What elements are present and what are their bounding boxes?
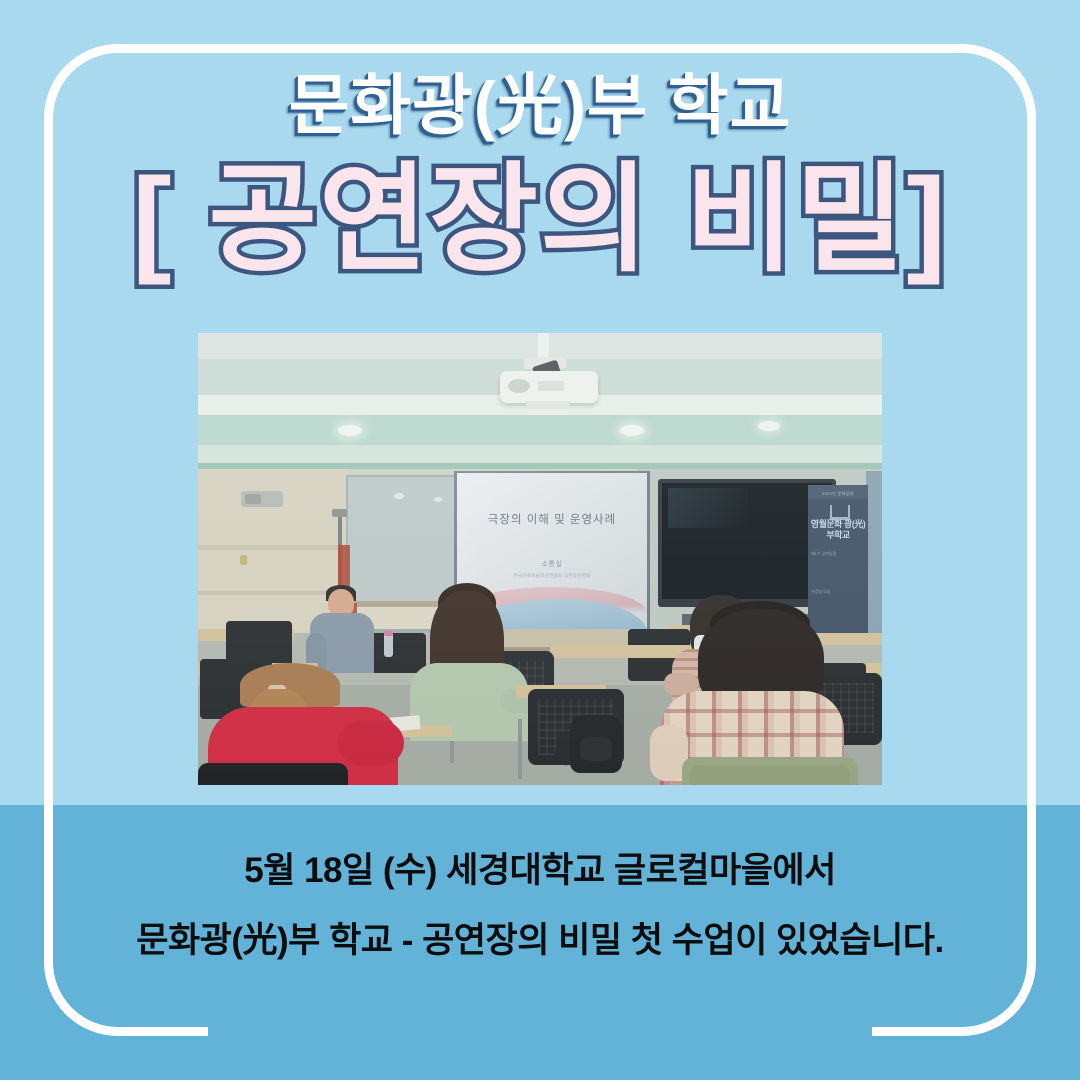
- whiteboard-glare: [394, 493, 404, 499]
- page-title-secondary: [ 공연장의 비밀]: [0, 154, 1080, 286]
- downlight-icon: [620, 425, 644, 436]
- chair-cover-fold: [690, 765, 850, 785]
- banner-logo-icon: [830, 505, 850, 520]
- chair-foreground: [198, 763, 348, 785]
- chair: [366, 633, 426, 673]
- caption-block: 5월 18일 (수) 세경대학교 글로컬마을에서 문화광(光)부 학교 - 공연…: [0, 836, 1080, 976]
- projector-lens: [508, 379, 530, 393]
- projector-mount-rod: [538, 333, 549, 359]
- poster-title-block: 문화광(光)부 학교 [ 공연장의 비밀]: [0, 68, 1080, 286]
- water-bottle-cap: [384, 631, 393, 636]
- poster-card: 문화광(光)부 학교 [ 공연장의 비밀]: [0, 0, 1080, 1080]
- page-title-primary: 문화광(光)부 학교: [0, 68, 1080, 142]
- banner-section-one: 제1기 강좌일정: [811, 551, 865, 557]
- air-conditioner-louver: [245, 494, 261, 504]
- attendee-red-arm: [338, 721, 404, 765]
- caption-line-2: 문화광(光)부 학교 - 공연장의 비밀 첫 수업이 있었습니다.: [0, 906, 1080, 976]
- ceiling-lower-panel: [198, 445, 882, 463]
- wall-monitor-glare: [668, 488, 748, 528]
- chair-leg: [518, 719, 522, 779]
- backpack-pocket: [580, 737, 612, 761]
- wall-trim: [198, 545, 350, 550]
- lecture-photo: 극장의 이해 및 운영사례 소통실 한국문화예술회관연합회 공연장운영팀 202…: [198, 333, 882, 785]
- projector-vent: [538, 381, 564, 391]
- wall-fixture: [240, 555, 247, 565]
- ceiling-cove-light: [198, 415, 882, 445]
- frame-bottom-gap: [208, 1020, 872, 1046]
- downlight-icon: [758, 421, 780, 431]
- banner-headline: 영월문화 광(光)부학교: [809, 519, 867, 541]
- door-panel: [866, 471, 882, 643]
- water-bottle: [384, 633, 393, 657]
- banner-section-two: 수강생 모집: [811, 589, 865, 595]
- projector-foot: [526, 401, 570, 409]
- caption-line-1: 5월 18일 (수) 세경대학교 글로컬마을에서: [0, 836, 1080, 906]
- banner-top-label: 2022년 문화광光: [811, 491, 865, 497]
- whiteboard-glare: [434, 497, 442, 502]
- flag-pole-top: [332, 509, 347, 517]
- downlight-icon: [338, 425, 362, 436]
